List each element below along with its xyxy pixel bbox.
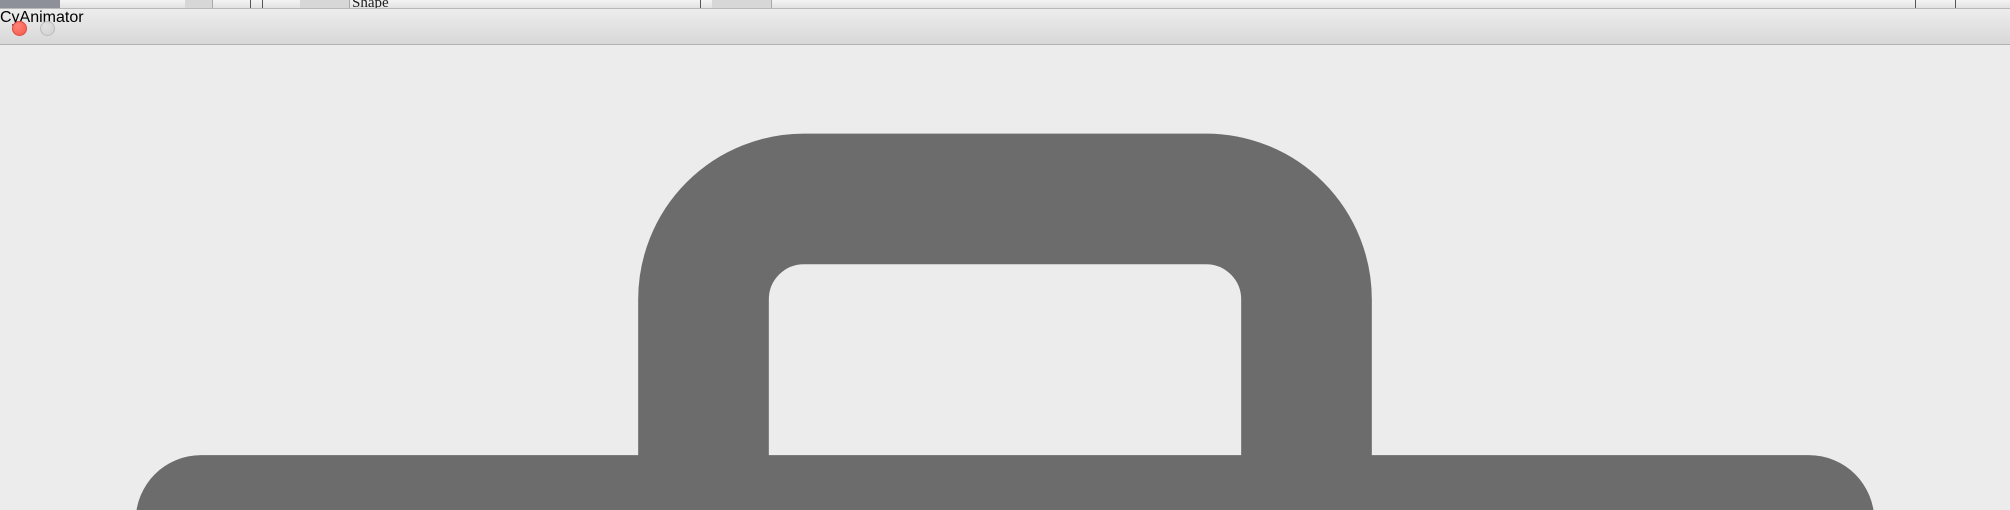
bg-tick (700, 0, 701, 9)
bg-tick (1955, 0, 1956, 9)
minimize-button[interactable] (40, 21, 55, 36)
bg-chip (0, 0, 60, 9)
bg-tick (250, 0, 251, 9)
toolbar: + Clear All Frames (0, 0, 2010, 510)
bg-window-label: Shape (352, 0, 389, 9)
bg-chip (300, 0, 350, 9)
bg-chip (185, 0, 213, 9)
bg-tick (1915, 0, 1916, 9)
title-bar: CyAnimator (0, 9, 2010, 45)
cyanimator-window: Shape CyAnimator + Clear All Frames (0, 0, 2010, 510)
bg-tick (262, 0, 263, 9)
bg-chip (712, 0, 772, 9)
window-title: CyAnimator (0, 9, 2010, 27)
delete-frame-button[interactable] (0, 18, 2010, 510)
background-window-strip: Shape (0, 0, 2010, 9)
maximize-button[interactable] (0, 21, 15, 36)
trash-icon (0, 18, 2010, 510)
